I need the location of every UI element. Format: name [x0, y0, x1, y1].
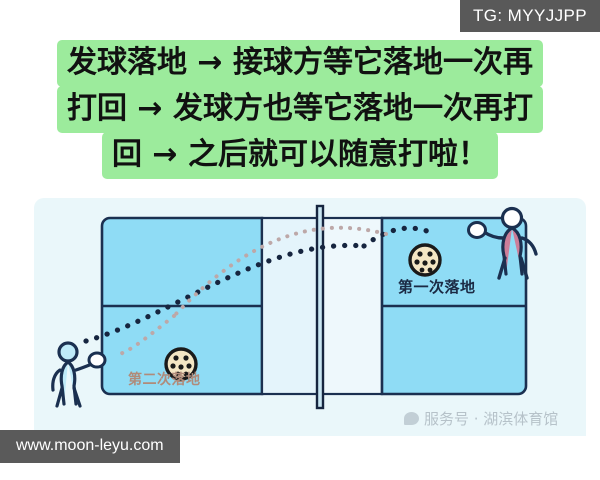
net-band: [317, 206, 323, 408]
ball-first-bounce: [410, 245, 440, 275]
headline-line-3: 回 → 之后就可以随意打啦！: [102, 132, 498, 179]
headline-block: 发球落地 → 接球方等它落地一次再 打回 → 发球方也等它落地一次再打 回 → …: [0, 40, 600, 178]
first-bounce-label: 第一次落地: [398, 276, 476, 297]
pickleball-court-illustration: [34, 198, 586, 436]
wechat-bubble-icon: [404, 412, 419, 425]
headline-line-1: 发球落地 → 接球方等它落地一次再: [57, 40, 543, 87]
court-diagram-panel: [34, 198, 586, 436]
paddle-icon: [89, 353, 105, 367]
telegram-watermark-badge: TG: MYYJJPP: [460, 0, 600, 32]
url-watermark-bar: www.moon-leyu.com: [0, 430, 180, 463]
wechat-account-watermark: 服务号 · 湖滨体育馆: [404, 408, 558, 429]
net-icon: [317, 206, 323, 408]
right-kitchen-zone: [320, 218, 382, 394]
player-body: [61, 362, 76, 404]
server-player-left: [53, 343, 105, 406]
player-left-arm: [53, 370, 60, 390]
player-head: [59, 343, 77, 361]
headline-line-2: 打回 → 发球方也等它落地一次再打: [57, 86, 543, 133]
paddle-icon: [469, 223, 486, 238]
second-bounce-label: 第二次落地: [128, 369, 201, 389]
player-head: [503, 209, 522, 228]
wechat-account-name: 服务号 · 湖滨体育馆: [424, 408, 558, 429]
